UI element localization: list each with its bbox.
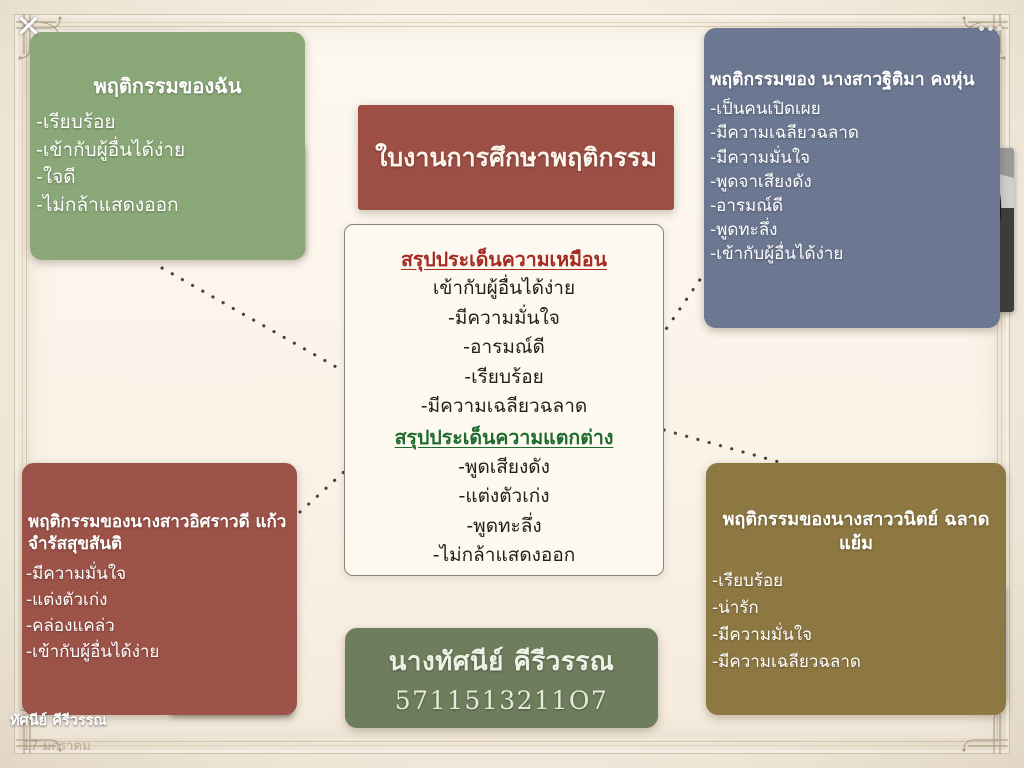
behavior-list: -เป็นคนเปิดเผย -มีความเฉลียวฉลาด -มีความ… [704, 91, 1000, 266]
summary-different-heading: สรุปประเด็นความแตกต่าง [395, 423, 614, 452]
list-item: -มีความมั่นใจ [355, 304, 653, 333]
author-name-plate: นางทัศนีย์ คีรีวรรณ 5711513211O7 [345, 628, 658, 728]
behavior-list: -เรียบร้อย -น่ารัก -มีความมั่นใจ -มีความ… [706, 556, 1006, 676]
close-icon[interactable] [10, 7, 46, 43]
list-item: -มีความเฉลียวฉลาด [355, 392, 653, 421]
list-item: -ไม่กล้าแสดงออก [355, 541, 653, 570]
summary-box: สรุปประเด็นความเหมือน เข้ากับผู้อื่นได้ง… [344, 224, 664, 576]
list-item: -ใจดี [36, 164, 305, 192]
card-thitima-behavior[interactable]: พฤติกรรมของ นางสาวฐิติมา คงหุ่น -เป็นคนเ… [704, 28, 1000, 328]
list-item: เข้ากับผู้อื่นได้ง่าย [355, 274, 653, 303]
list-item: -เข้ากับผู้อื่นได้ง่าย [36, 136, 305, 164]
behavior-list: -มีความมั่นใจ -แต่งตัวเก่ง -คล่องแคล่ว -… [22, 555, 297, 665]
slide-title-banner: ใบงานการศึกษาพฤติกรรม [358, 105, 674, 210]
list-item: -แต่งตัวเก่ง [26, 587, 297, 613]
more-options-icon[interactable] [979, 26, 1002, 31]
list-item: -พูดทะลึ่ง [710, 218, 1000, 242]
card-wanit-behavior[interactable]: พฤติกรรมของนางสาววนิตย์ ฉลาดแย้ม -เรียบร… [706, 463, 1006, 715]
list-item: -มีความมั่นใจ [710, 146, 1000, 170]
list-item: -มีความมั่นใจ [712, 622, 1006, 649]
list-item: -อารมณ์ดี [355, 333, 653, 362]
card-heading: พฤติกรรมของนางสาวอิศราวดี แก้วจำรัสสุขสั… [22, 463, 297, 555]
behavior-list: -เรียบร้อย -เข้ากับผู้อื่นได้ง่าย -ใจดี … [30, 98, 305, 219]
list-item: -พูดทะลึ่ง [355, 512, 653, 541]
dot [988, 26, 993, 31]
dot [979, 26, 984, 31]
list-item: -มีความเฉลียวฉลาด [710, 121, 1000, 145]
list-item: -อารมณ์ดี [710, 194, 1000, 218]
card-my-behavior[interactable]: พฤติกรรมของฉัน -เรียบร้อย -เข้ากับผู้อื่… [30, 32, 305, 260]
list-item: -ไม่กล้าแสดงออก [36, 191, 305, 219]
list-item: -เรียบร้อย [36, 108, 305, 136]
list-item: -เรียบร้อย [355, 363, 653, 392]
page-title: ใบงานการศึกษาพฤติกรรม [375, 138, 657, 178]
card-heading: พฤติกรรมของฉัน [30, 32, 305, 98]
dot [997, 26, 1002, 31]
card-heading: พฤติกรรมของนางสาววนิตย์ ฉลาดแย้ม [706, 463, 1006, 556]
list-item: -พูดเสียงดัง [355, 453, 653, 482]
student-id: 5711513211O7 [395, 686, 608, 715]
list-item: -แต่งตัวเก่ง [355, 482, 653, 511]
list-item: -เรียบร้อย [712, 568, 1006, 595]
list-item: -มีความมั่นใจ [26, 561, 297, 587]
watermark-name: ทัศนีย์ คีรีวรรณ [10, 709, 107, 732]
list-item: -น่ารัก [712, 595, 1006, 622]
list-item: -เข้ากับผู้อื่นได้ง่าย [710, 242, 1000, 266]
list-item: -มีความเฉลียวฉลาด [712, 649, 1006, 676]
watermark-date: 17 มกราคม [22, 735, 91, 756]
summary-similar-heading: สรุปประเด็นความเหมือน [401, 245, 607, 274]
list-item: -พูดจาเสียงดัง [710, 170, 1000, 194]
list-item: -เป็นคนเปิดเผย [710, 97, 1000, 121]
list-item: -เข้ากับผู้อื่นได้ง่าย [26, 639, 297, 665]
similar-list: เข้ากับผู้อื่นได้ง่าย -มีความมั่นใจ -อาร… [355, 274, 653, 421]
list-item: -คล่องแคล่ว [26, 613, 297, 639]
author-name: นางทัศนีย์ คีรีวรรณ [389, 641, 615, 682]
different-list: -พูดเสียงดัง -แต่งตัวเก่ง -พูดทะลึ่ง -ไม… [355, 453, 653, 571]
slide-canvas: พฤติกรรมของฉัน -เรียบร้อย -เข้ากับผู้อื่… [0, 0, 1024, 768]
card-itsarawadee-behavior[interactable]: พฤติกรรมของนางสาวอิศราวดี แก้วจำรัสสุขสั… [22, 463, 297, 715]
card-heading: พฤติกรรมของ นางสาวฐิติมา คงหุ่น [704, 28, 1000, 91]
